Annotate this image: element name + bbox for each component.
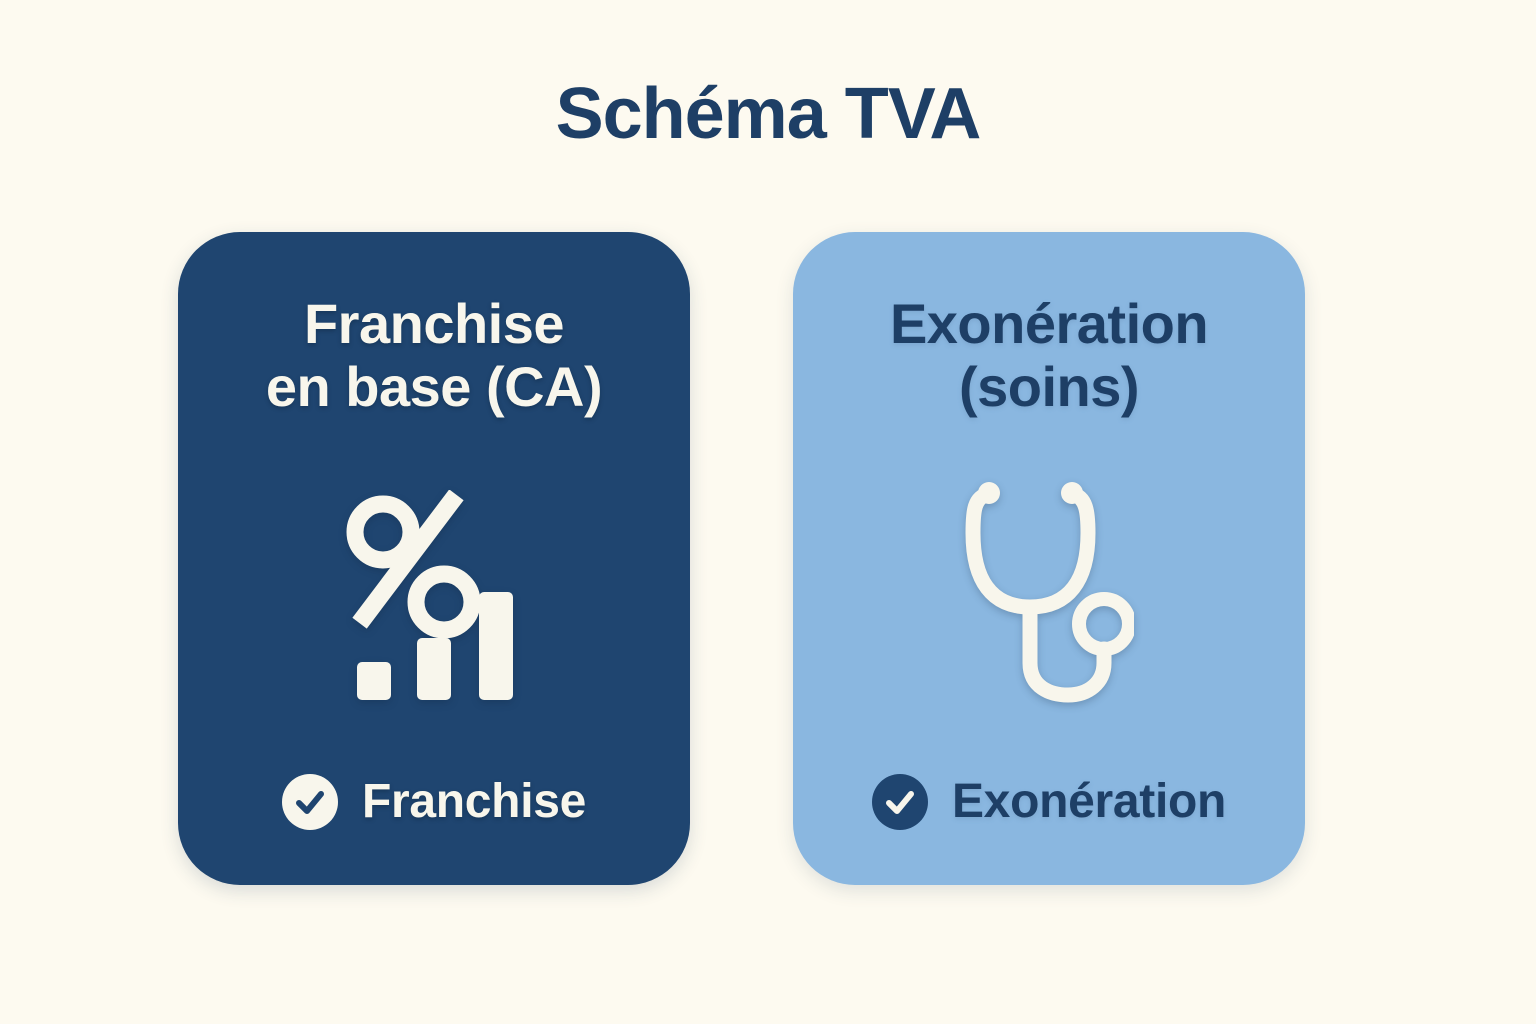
card-franchise-badge[interactable]: Franchise	[178, 774, 690, 830]
check-circle-icon	[872, 774, 928, 830]
card-franchise-title-line2: en base (CA)	[214, 355, 654, 418]
card-exoneration-badge-label: Exonération	[952, 778, 1226, 826]
stethoscope-icon	[793, 472, 1305, 722]
card-exoneration-title-line1: Exonération	[829, 292, 1269, 355]
card-franchise[interactable]: Franchise en base (CA)	[178, 232, 690, 885]
page-title: Schéma TVA	[0, 78, 1536, 150]
card-exoneration-title: Exonération (soins)	[829, 292, 1269, 419]
card-exoneration-title-line2: (soins)	[829, 355, 1269, 418]
schema-tva-canvas: Schéma TVA Franchise en base (CA)	[0, 0, 1536, 1024]
card-franchise-badge-label: Franchise	[362, 778, 586, 826]
card-franchise-title: Franchise en base (CA)	[214, 292, 654, 419]
card-exoneration[interactable]: Exonération (soins)	[793, 232, 1305, 885]
card-exoneration-badge[interactable]: Exonération	[793, 774, 1305, 830]
card-franchise-title-line1: Franchise	[214, 292, 654, 355]
check-circle-icon	[282, 774, 338, 830]
percent-bar-chart-icon	[178, 472, 690, 722]
